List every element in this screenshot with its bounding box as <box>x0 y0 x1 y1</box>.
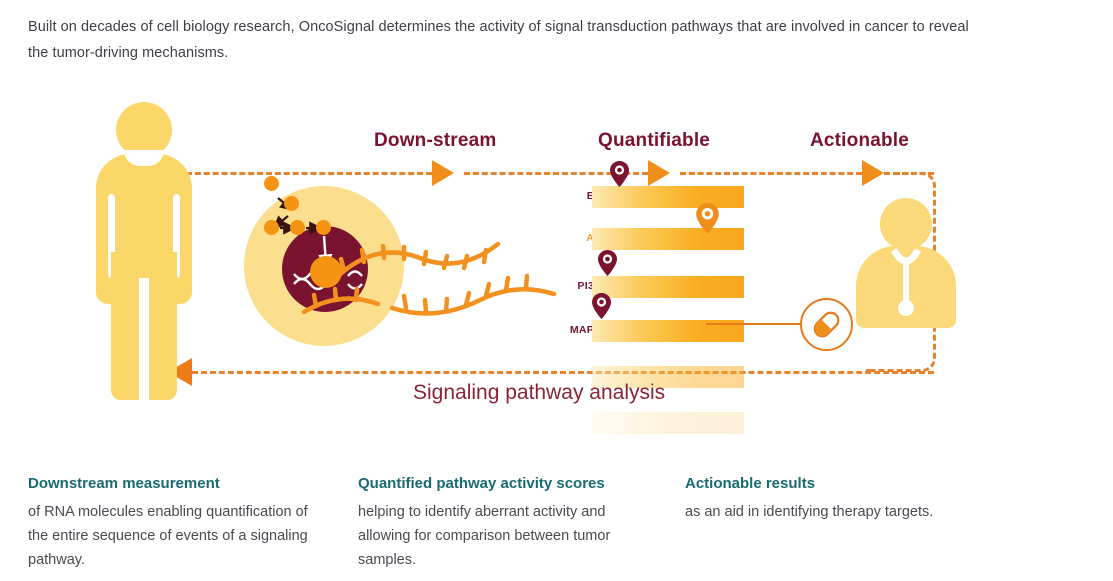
footer-column-downstream: Downstream measurement of RNA molecules … <box>28 474 328 572</box>
stethoscope-icon <box>850 198 960 328</box>
rna-strand-icon <box>300 282 420 322</box>
footer-column-quantified: Quantified pathway activity scores helpi… <box>358 474 658 572</box>
chart-row-faded-2 <box>548 412 748 434</box>
stage-heading-down-stream: Down-stream <box>374 130 496 152</box>
signal-molecule <box>264 220 279 235</box>
triangle-arrow-icon <box>648 160 670 186</box>
location-pin-icon <box>598 250 617 276</box>
infographic-stage: Down-stream Quantifiable Actionable <box>0 86 1113 456</box>
activity-bar-pi3k <box>592 276 744 298</box>
footer-column-actionable: Actionable results as an aid in identify… <box>685 474 1015 524</box>
activity-bar-faded <box>592 412 744 434</box>
patient-figure-icon <box>88 102 198 402</box>
footer-body: as an aid in identifying therapy targets… <box>685 500 1015 524</box>
signal-molecule <box>264 176 279 191</box>
activity-bar-ar <box>592 228 744 250</box>
signal-molecule <box>284 196 299 211</box>
location-pin-icon <box>592 293 611 319</box>
ar-target-connector <box>706 323 802 325</box>
footer-heading: Quantified pathway activity scores <box>358 474 658 494</box>
stage-heading-actionable: Actionable <box>810 130 909 152</box>
doctor-figure-icon <box>850 198 960 328</box>
activity-bar-er <box>592 186 744 208</box>
location-pin-icon-highlighted <box>696 203 719 234</box>
diagram-caption: Signaling pathway analysis <box>413 381 665 405</box>
intro-paragraph: Built on decades of cell biology researc… <box>28 14 988 66</box>
flow-dash-segment-3 <box>680 172 862 175</box>
patient-leg-gap <box>139 278 149 402</box>
signal-molecule <box>316 220 331 235</box>
signal-molecule <box>290 220 305 235</box>
chart-row-pi3k: PI3K <box>548 276 748 298</box>
infographic-page: Built on decades of cell biology researc… <box>0 0 1113 581</box>
footer-body: of RNA molecules enabling quantification… <box>28 500 328 572</box>
pathway-activity-chart: ER AR PI3K <box>548 186 748 456</box>
footer-body: helping to identify aberrant activity an… <box>358 500 658 572</box>
footer-heading: Downstream measurement <box>28 474 328 494</box>
stage-heading-quantifiable: Quantifiable <box>598 130 710 152</box>
chart-row-ar: AR <box>548 228 748 250</box>
triangle-arrow-icon <box>862 160 884 186</box>
location-pin-icon <box>610 161 629 187</box>
pill-capsule-icon <box>800 298 853 351</box>
footer-heading: Actionable results <box>685 474 1015 494</box>
